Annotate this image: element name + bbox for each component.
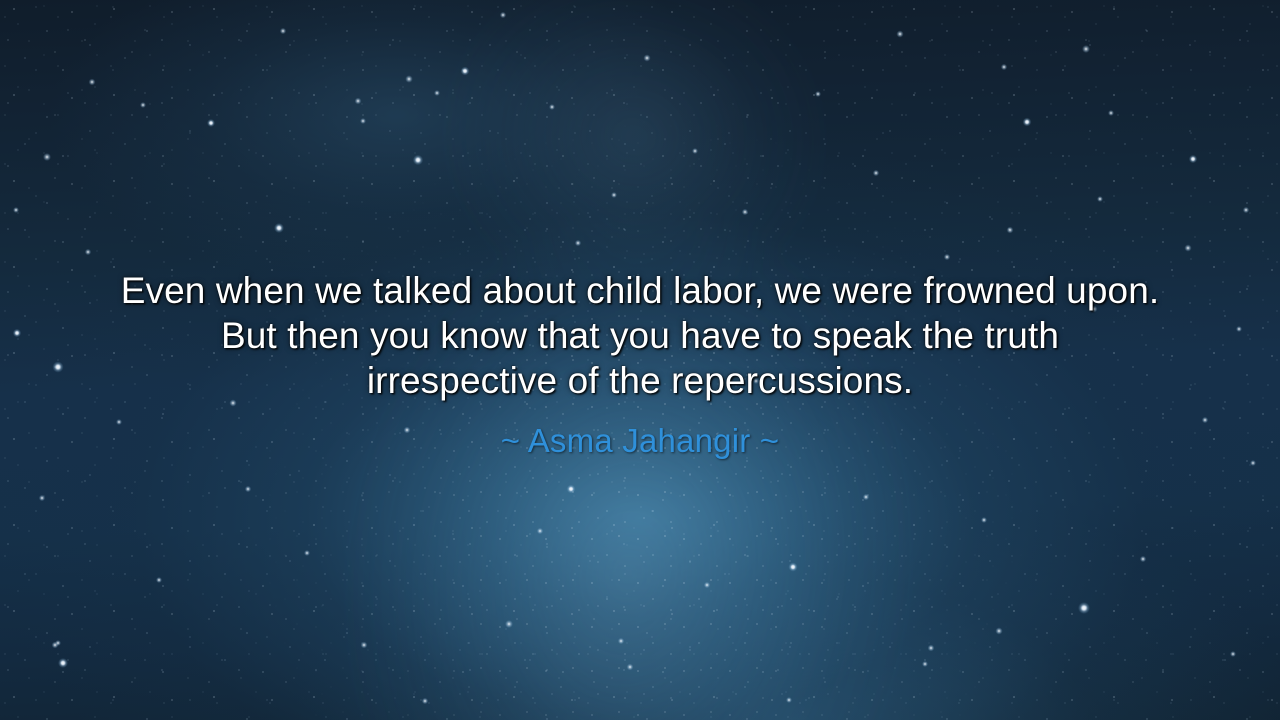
quote-image-canvas: Even when we talked about child labor, w… [0,0,1280,720]
night-sky-background [0,0,1280,720]
